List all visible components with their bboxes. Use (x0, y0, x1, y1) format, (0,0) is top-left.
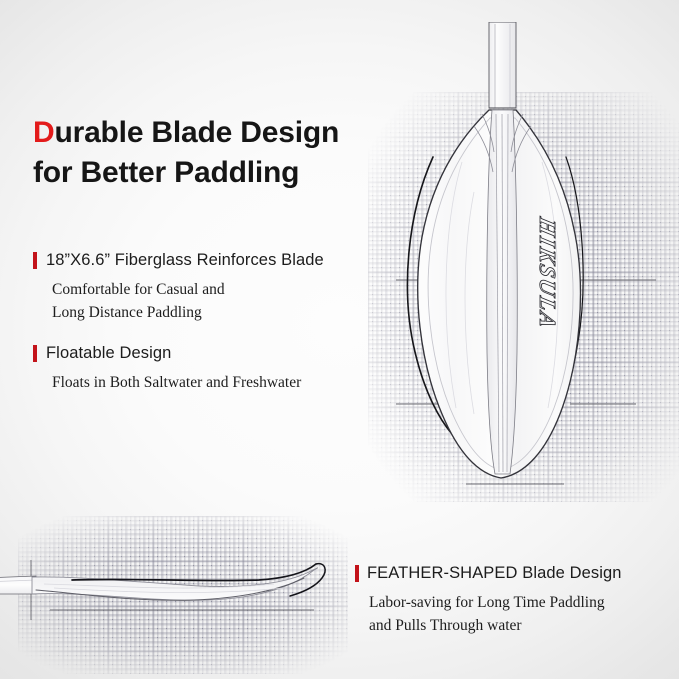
paddle-blade-side-profile-illustration (0, 520, 364, 660)
paddle-shaft (489, 22, 516, 108)
side-shaft (0, 576, 36, 594)
side-blade-body (32, 568, 318, 600)
feature-title-text: Floatable Design (46, 344, 171, 362)
feature-description-line-2: and Pulls Through water (369, 614, 622, 638)
feature-title: FEATHER-SHAPED Blade Design (355, 563, 622, 584)
side-blade-top-edge (72, 564, 316, 581)
page-title: Durable Blade Design for Better Paddling (33, 113, 373, 193)
feature-title-text: FEATHER-SHAPED Blade Design (367, 564, 622, 582)
red-bullet-bar-icon (33, 252, 37, 269)
blade-brand-mark: HIKSULA (534, 214, 560, 332)
feature-description-line-1: Floats in Both Saltwater and Freshwater (52, 371, 301, 395)
feature-description-line-1: Comfortable for Casual and (52, 278, 324, 302)
feature-description-line-1: Labor-saving for Long Time Paddling (369, 591, 622, 615)
red-bullet-bar-icon (33, 345, 37, 362)
feature-description-line-2: Long Distance Paddling (52, 301, 324, 325)
feature-description: Floats in Both Saltwater and Freshwater (30, 371, 301, 395)
feature-description: Labor-saving for Long Time Paddling and … (355, 591, 622, 638)
paddle-blade-front-view-illustration: HIKSULA (370, 22, 679, 502)
feature-description: Comfortable for Casual and Long Distance… (30, 278, 324, 325)
headline-line2: for Better Paddling (33, 156, 299, 189)
product-feature-infographic: HIKSULA (0, 0, 679, 679)
feature-title-text: 18”X6.6” Fiberglass Reinforces Blade (46, 251, 324, 269)
feature-block-feather-shaped: FEATHER-SHAPED Blade Design Labor-saving… (355, 563, 622, 638)
headline-drop-cap: D (33, 116, 54, 149)
feature-title: Floatable Design (30, 343, 301, 364)
svg-text:HIKSULA: HIKSULA (534, 214, 560, 332)
feature-block-floatable: Floatable Design Floats in Both Saltwate… (30, 343, 301, 394)
red-bullet-bar-icon (355, 565, 359, 582)
feature-block-fiberglass: 18”X6.6” Fiberglass Reinforces Blade Com… (30, 250, 324, 325)
feature-title: 18”X6.6” Fiberglass Reinforces Blade (30, 250, 324, 271)
headline-line1: urable Blade Design (54, 116, 339, 149)
